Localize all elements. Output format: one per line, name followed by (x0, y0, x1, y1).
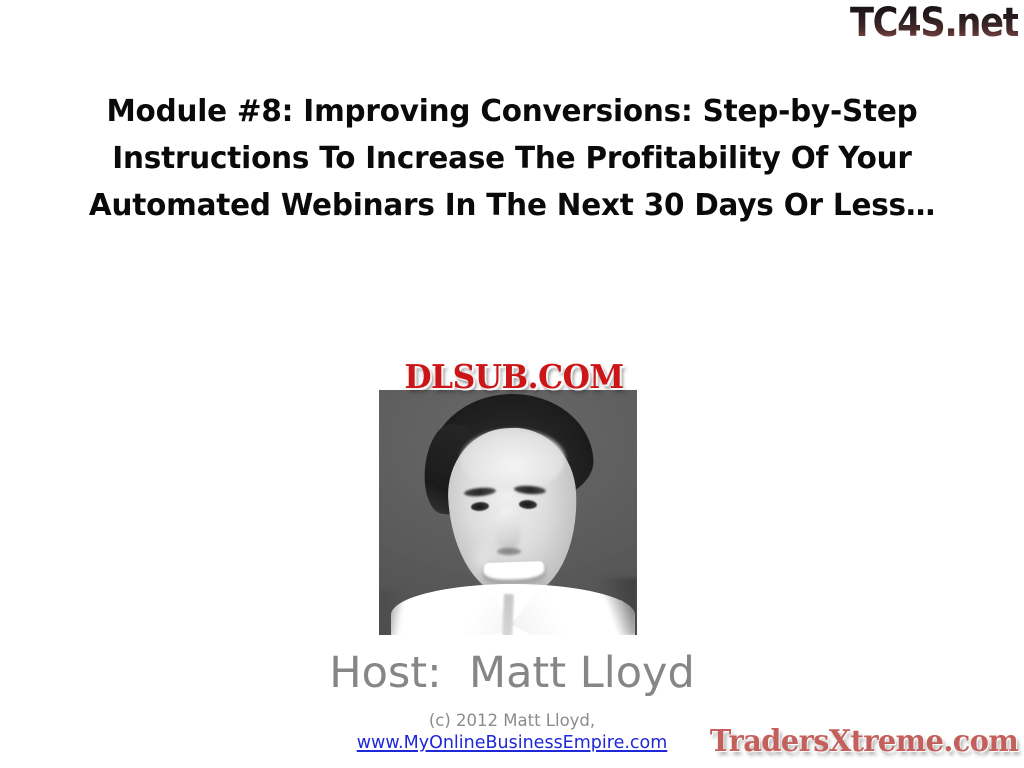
tradersxtreme-com-watermark: TradersXtreme.com (710, 724, 1018, 760)
speaker-photo (379, 390, 637, 635)
photo-shadow-left (379, 590, 409, 635)
photo-forehead (461, 430, 565, 490)
slide-title: Module #8: Improving Conversions: Step-b… (76, 88, 948, 229)
dlsub-com-watermark: DLSUB.COM (376, 357, 652, 397)
speaker-photo-image (379, 390, 637, 635)
tc4s-net-watermark: TC4S.net (850, 2, 1018, 44)
host-label: Host: Matt Lloyd (0, 648, 1024, 698)
photo-collar-opening (502, 594, 514, 635)
photo-nostril (497, 548, 521, 555)
photo-shadow-right (601, 578, 637, 635)
photo-nose (495, 508, 521, 552)
presentation-slide: TC4S.net TC4S.net Module #8: Improving C… (0, 0, 1024, 768)
